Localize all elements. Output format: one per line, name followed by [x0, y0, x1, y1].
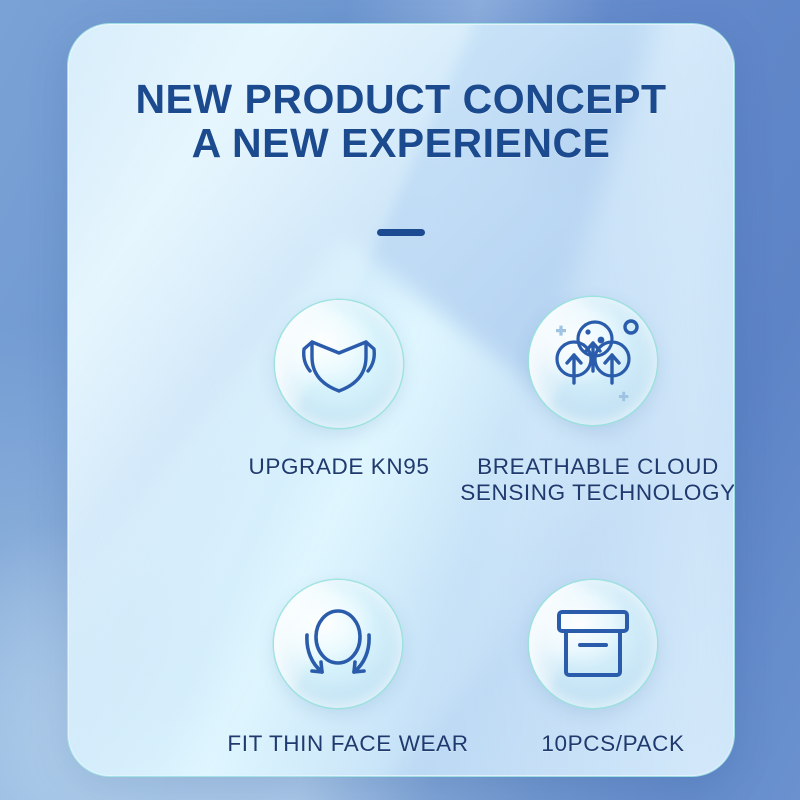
icon-bubble: [529, 580, 657, 708]
glass-panel: NEW PRODUCT CONCEPT A NEW EXPERIENCE: [68, 24, 734, 776]
feature-label-pack: 10PCS/PACK: [498, 731, 728, 757]
sparkle-accent-icon: [619, 392, 628, 401]
feature-label-breathable-cloud: BREATHABLE CLOUD SENSING TECHNOLOGY: [448, 454, 734, 505]
poster-title: NEW PRODUCT CONCEPT A NEW EXPERIENCE: [68, 78, 734, 166]
feature-label-face-fit: FIT THIN FACE WEAR: [208, 731, 488, 757]
feature-icon-breathable-cloud: [529, 297, 657, 425]
ring-accent-icon: [625, 321, 637, 333]
icon-bubble: [529, 297, 657, 425]
poster-title-line-2: A NEW EXPERIENCE: [68, 122, 734, 166]
sparkle-accent-icon: [556, 326, 566, 336]
face-fit-icon: [295, 604, 381, 684]
poster-title-line-1: NEW PRODUCT CONCEPT: [135, 76, 666, 122]
box-pack-icon: [555, 608, 631, 680]
icon-bubble: [275, 300, 403, 428]
feature-icon-pack: [529, 580, 657, 708]
icon-bubble: [274, 580, 402, 708]
feature-icon-upgrade-kn95: [275, 300, 403, 428]
feature-icon-face-fit: [274, 580, 402, 708]
poster-canvas: NEW PRODUCT CONCEPT A NEW EXPERIENCE: [0, 0, 800, 800]
kn95-mask-icon: [296, 327, 382, 401]
breathable-cloud-arrows-icon: [543, 313, 643, 409]
feature-label-upgrade-kn95: UPGRADE KN95: [218, 454, 460, 480]
title-divider-bar: [377, 229, 425, 236]
